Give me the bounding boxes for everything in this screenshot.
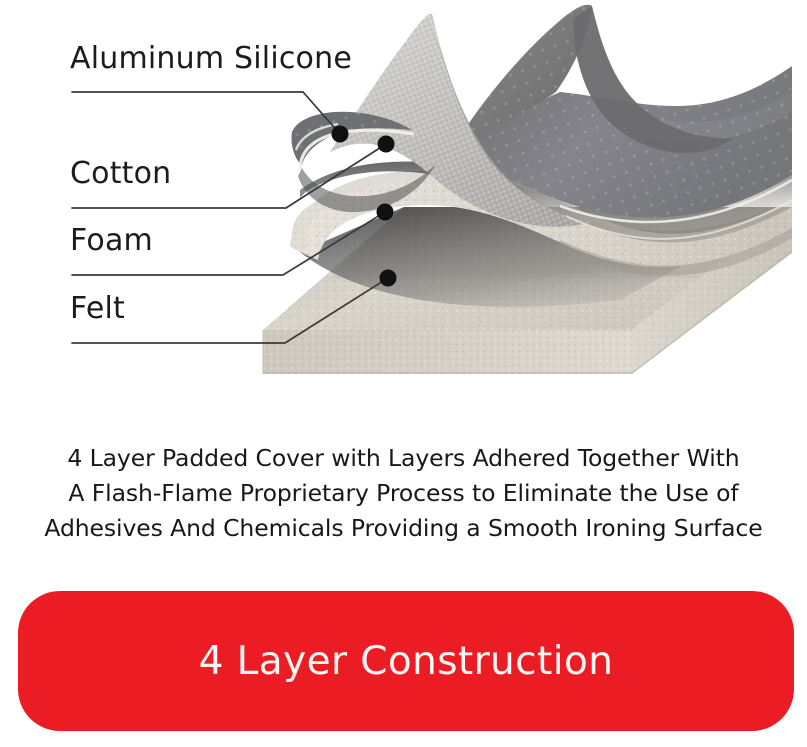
- callout-label-cotton: Cotton: [70, 156, 171, 191]
- leader-aluminum-silicone: [72, 92, 340, 134]
- callout-dot-foam: [377, 204, 394, 221]
- product-infographic: Aluminum Silicone Cotton Foam Felt 4 Lay…: [0, 0, 807, 747]
- description-line-1: 4 Layer Padded Cover with Layers Adhered…: [0, 441, 807, 476]
- banner-title: 4 Layer Construction: [199, 642, 614, 681]
- callout-label-foam: Foam: [70, 223, 153, 258]
- callout-dot-aluminum-silicone: [332, 126, 349, 143]
- callout-dot-felt: [380, 270, 397, 287]
- description-paragraph: 4 Layer Padded Cover with Layers Adhered…: [0, 441, 807, 546]
- construction-banner: 4 Layer Construction: [18, 591, 794, 731]
- callout-dot-cotton: [378, 136, 395, 153]
- callout-label-felt: Felt: [70, 291, 125, 326]
- description-line-3: Adhesives And Chemicals Providing a Smoo…: [0, 511, 807, 546]
- description-line-2: A Flash-Flame Proprietary Process to Eli…: [0, 476, 807, 511]
- callout-label-aluminum-silicone: Aluminum Silicone: [70, 41, 352, 76]
